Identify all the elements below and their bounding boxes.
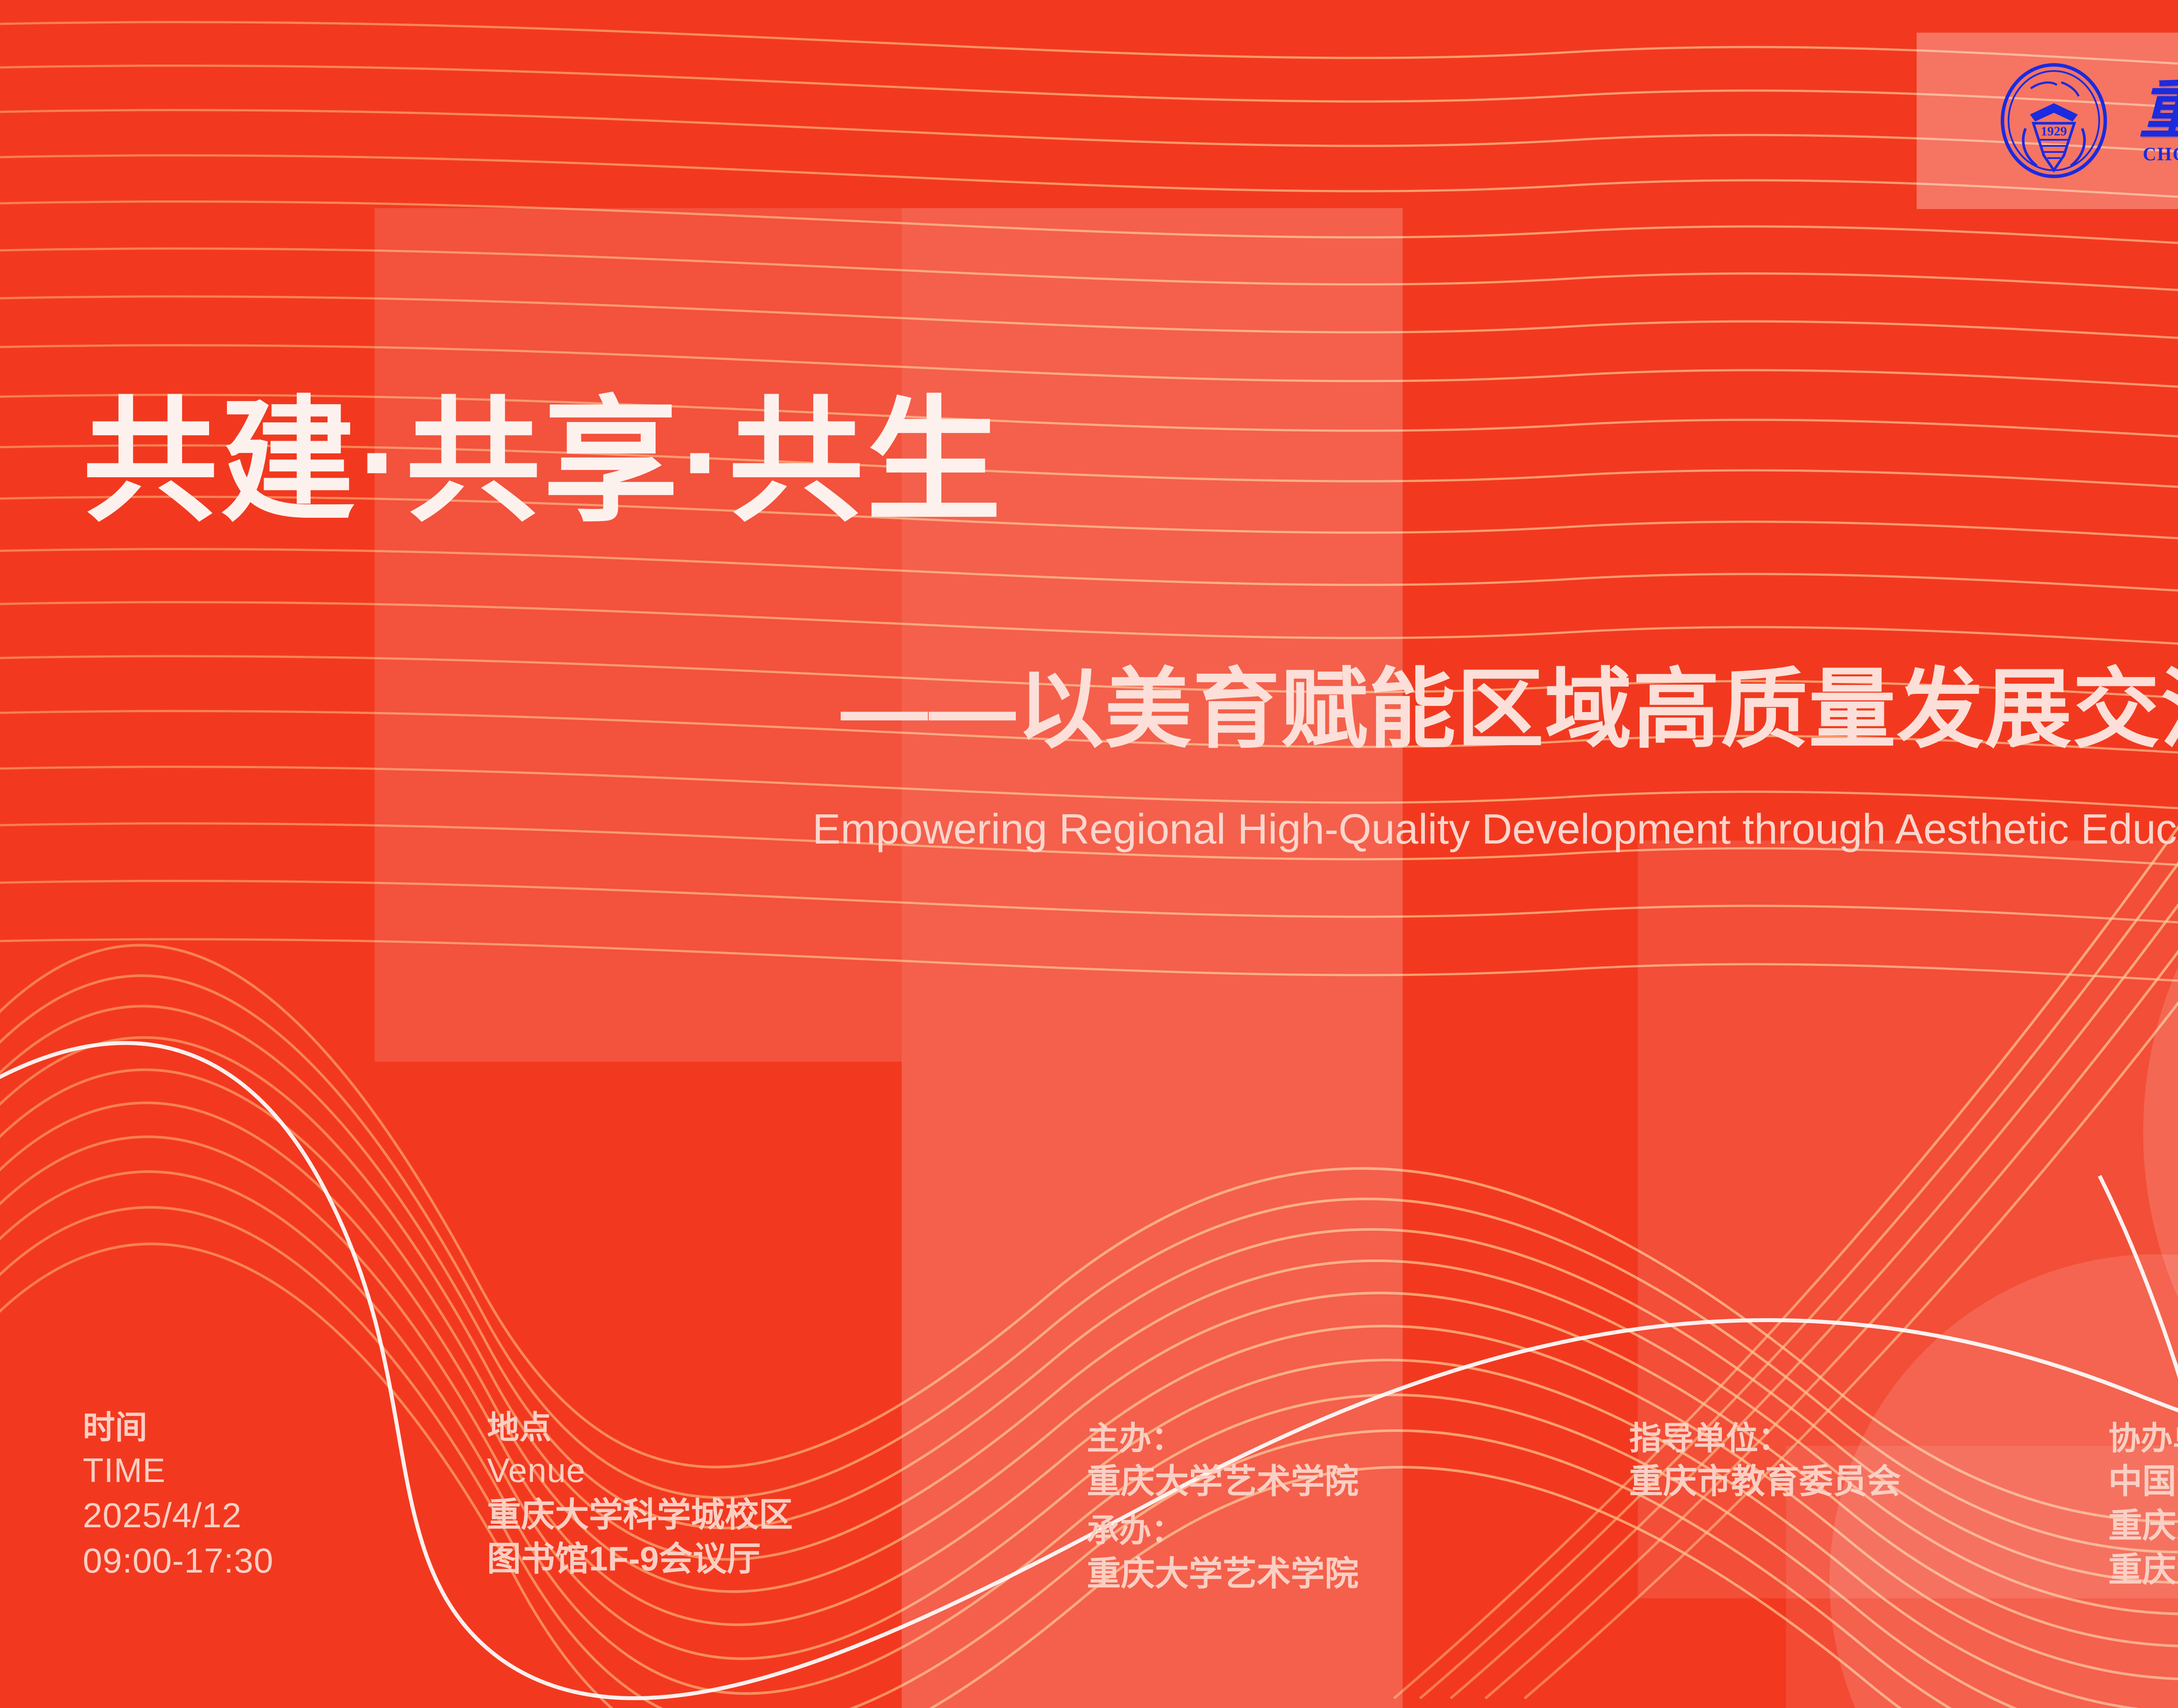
time-label-cn: 时间	[83, 1407, 274, 1448]
time-hours: 09:00-17:30	[83, 1538, 274, 1583]
coorganizer-label: 协办单位：	[2108, 1418, 2178, 1459]
time-date: 2025/4/12	[83, 1493, 274, 1538]
host-label: 主办：	[1087, 1418, 1359, 1459]
footer-col-time: 时间 TIME 2025/4/12 09:00-17:30	[83, 1407, 274, 1583]
logo-bar: 1929 重庆大学 CHONGQING UNIVERSITY	[1917, 33, 2178, 209]
footer-col-venue: 地点 Venue 重庆大学科学城校区 图书馆1F-9会议厅	[487, 1407, 793, 1581]
footer-info: 时间 TIME 2025/4/12 09:00-17:30 地点 Venue 重…	[0, 1407, 2178, 1668]
chongqing-university-wordmark: 重庆大学 CHONGQING UNIVERSITY	[2139, 78, 2178, 164]
poster-canvas: 1929 重庆大学 CHONGQING UNIVERSITY	[0, 0, 2178, 1708]
poster-headline: 共建·共享·共生	[83, 394, 1004, 529]
panel-rect-left	[375, 208, 902, 1062]
venue-label-cn: 地点	[487, 1407, 793, 1448]
exec-label: 承办：	[1087, 1510, 1359, 1552]
poster-subheadline-cn: ——以美育赋能区域高质量发展交流	[841, 666, 2178, 753]
footer-col-coorganizers: 协办单位： 中国艺术研究院艺术培训中心 重庆大学美育教育中心 重庆大学艺术学院美…	[2108, 1418, 2178, 1592]
guidance-value: 重庆市教育委员会	[1629, 1459, 1901, 1503]
time-label-en: TIME	[83, 1448, 274, 1492]
exec-value: 重庆大学艺术学院	[1087, 1552, 1359, 1596]
venue-line-1: 重庆大学科学城校区	[487, 1493, 793, 1537]
venue-line-2: 图书馆1F-9会议厅	[487, 1537, 793, 1581]
chongqing-university-seal-icon: 1929	[1999, 63, 2108, 179]
coorganizer-item: 中国艺术研究院艺术培训中心	[2108, 1459, 2178, 1503]
footer-col-guidance: 指导单位： 重庆市教育委员会	[1629, 1418, 1901, 1504]
cqu-name-cn: 重庆大学	[2139, 78, 2178, 143]
coorganizer-item: 重庆大学艺术学院美育培训中心	[2108, 1548, 2178, 1592]
cqu-name-en: CHONGQING UNIVERSITY	[2143, 145, 2178, 164]
venue-label-en: Venue	[487, 1448, 793, 1492]
poster-subheadline-en: Empowering Regional High-Quality Develop…	[812, 808, 2178, 850]
svg-text:1929: 1929	[2041, 124, 2067, 138]
coorganizer-item: 重庆大学美育教育中心	[2108, 1504, 2178, 1548]
guidance-label: 指导单位：	[1629, 1418, 1901, 1459]
host-value: 重庆大学艺术学院	[1087, 1459, 1359, 1503]
footer-col-organizer: 主办： 重庆大学艺术学院 承办： 重庆大学艺术学院	[1087, 1418, 1359, 1596]
